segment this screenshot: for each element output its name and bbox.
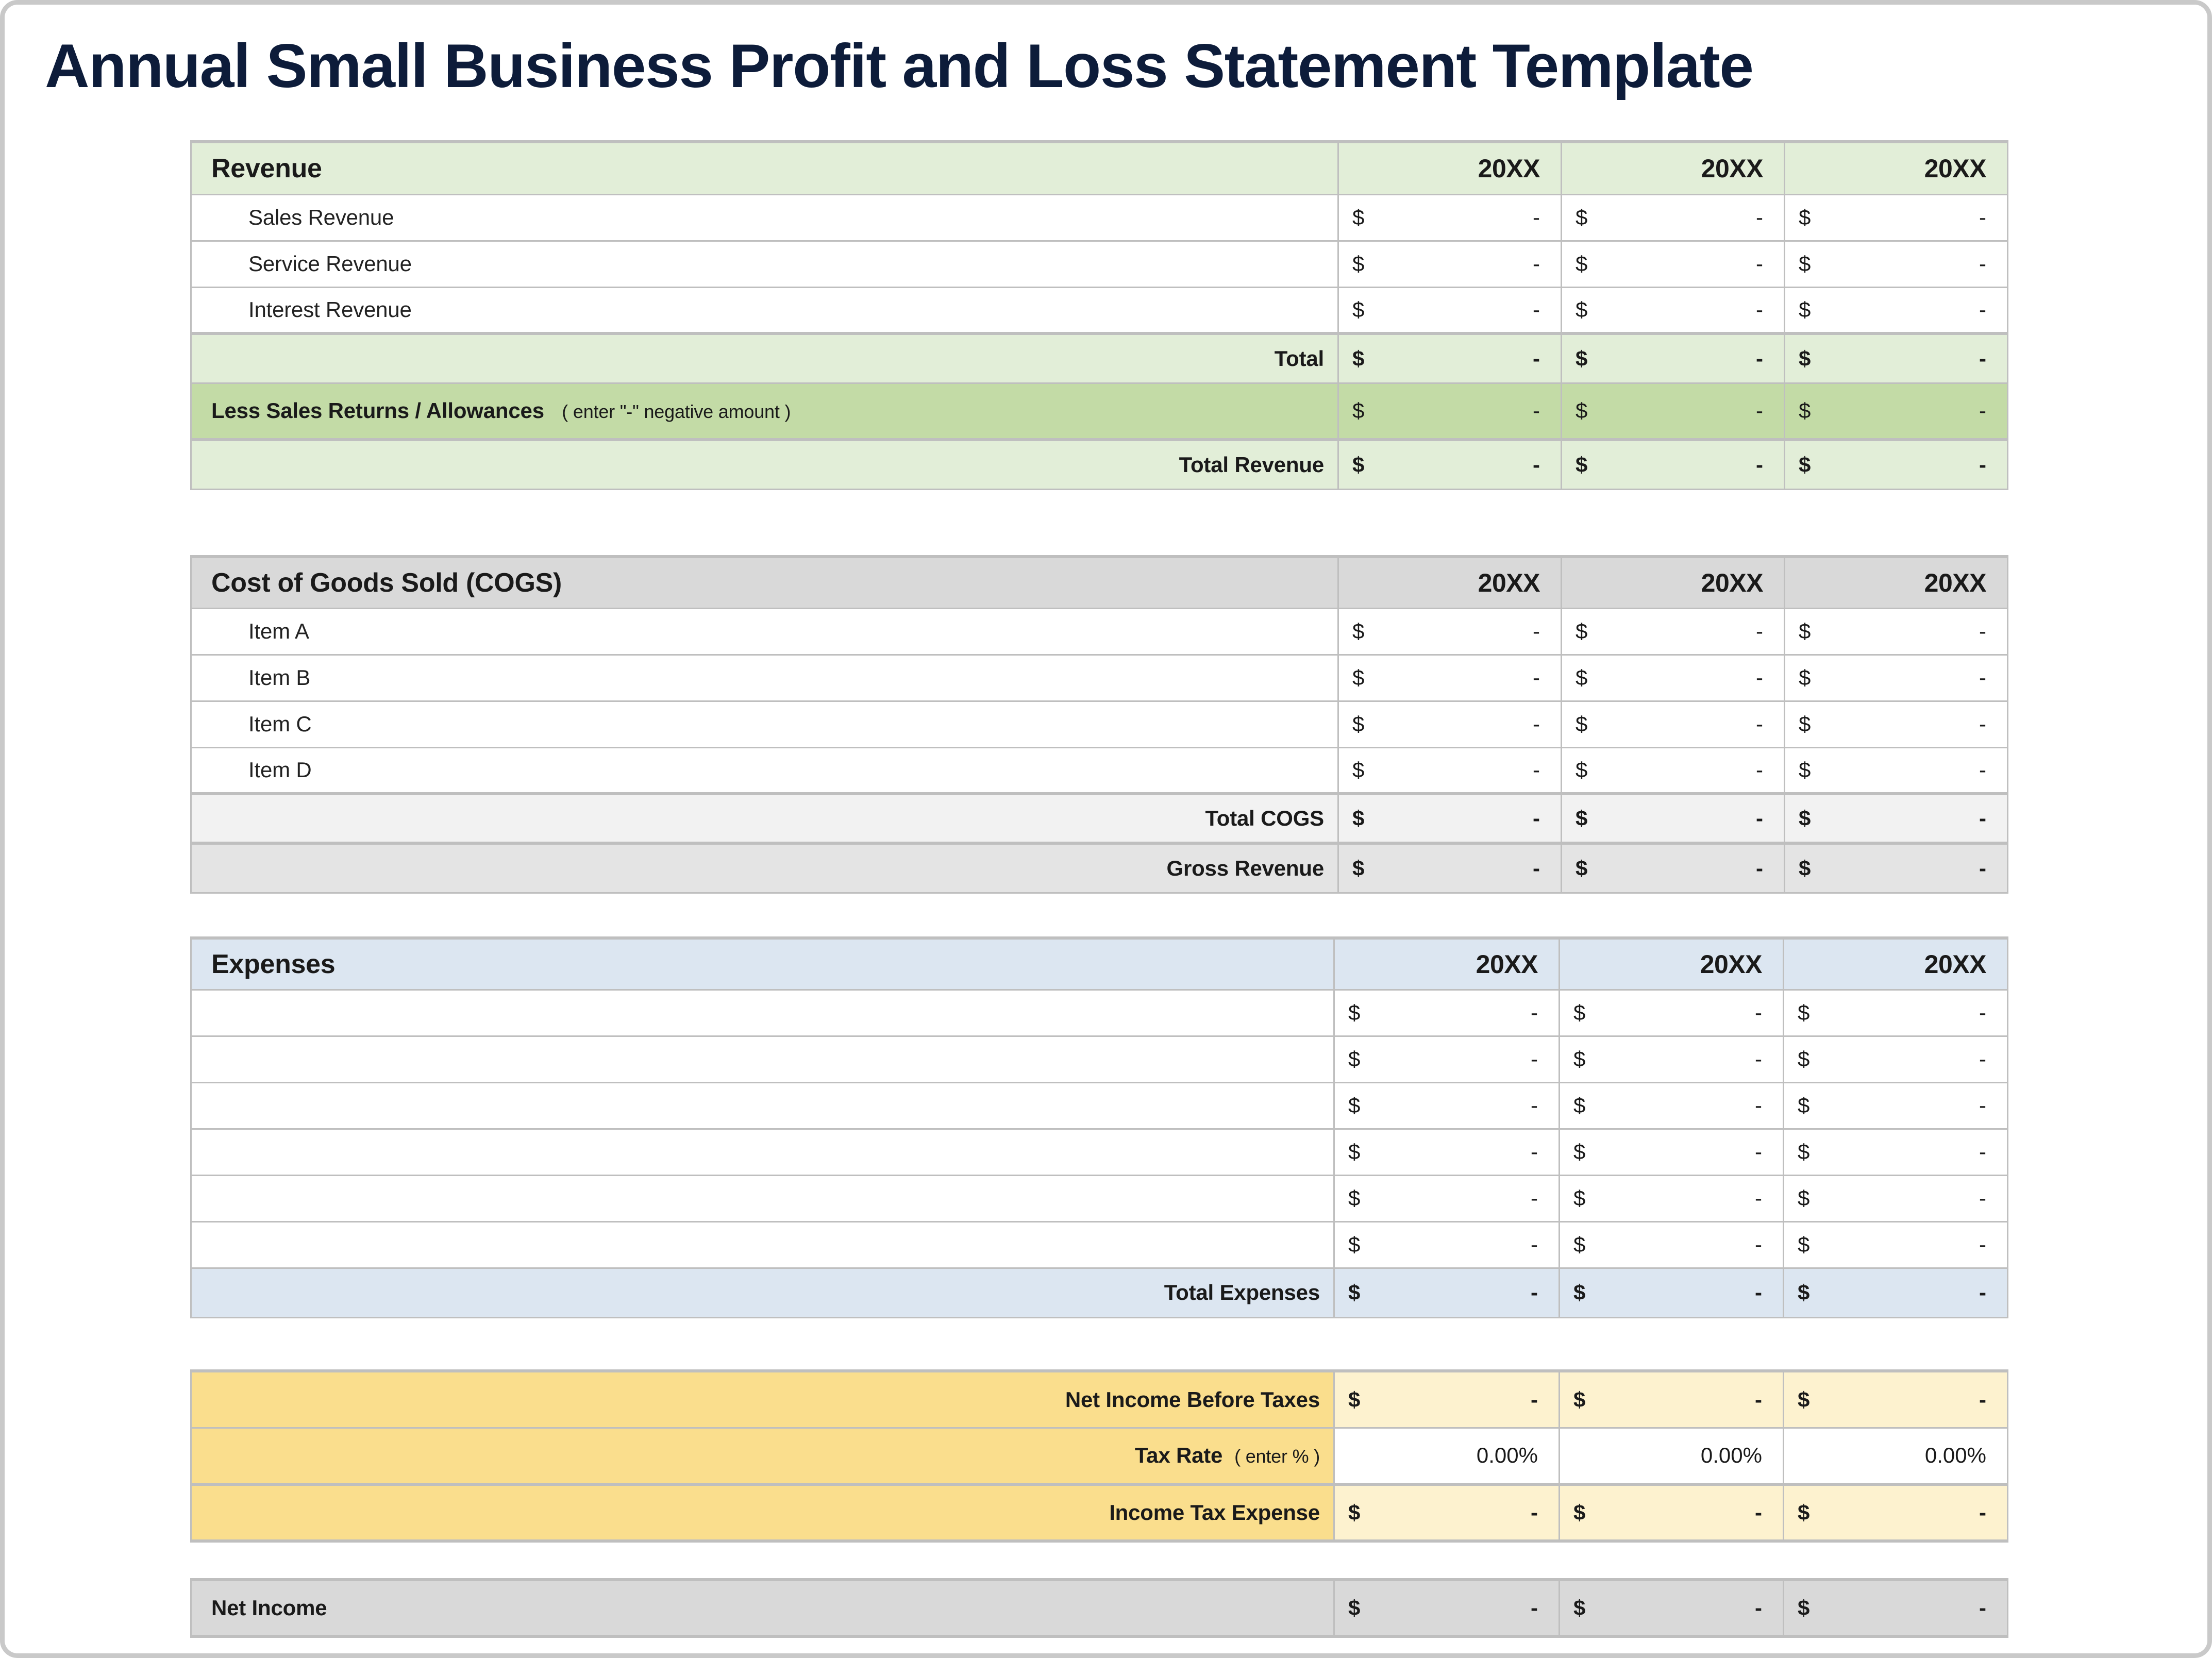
value: - xyxy=(1756,205,1763,230)
expense-row-3-label-cell[interactable] xyxy=(191,1082,1334,1129)
value: - xyxy=(1755,1500,1762,1525)
nibt-val-3: $- xyxy=(1784,1371,2008,1428)
value: - xyxy=(1533,252,1540,276)
sales-revenue-val-2[interactable]: $- xyxy=(1562,194,1785,241)
expense-row-5-label-cell[interactable] xyxy=(191,1175,1334,1221)
value: - xyxy=(1531,1387,1538,1412)
currency-symbol: $ xyxy=(1573,1047,1585,1071)
value: - xyxy=(1531,1500,1538,1525)
cogs-item-d-val-1[interactable]: $- xyxy=(1338,747,1562,794)
total-cogs-row: Total COGS $- $- $- xyxy=(191,794,2008,843)
total-expenses-label-cell: Total Expenses xyxy=(191,1268,1334,1317)
currency-symbol: $ xyxy=(1573,1280,1585,1305)
expense-row-3-val-2[interactable]: $- xyxy=(1560,1082,1784,1129)
value: - xyxy=(1979,398,1986,423)
value: - xyxy=(1756,758,1763,782)
value: - xyxy=(1533,619,1540,644)
total-revenue-label: Total Revenue xyxy=(192,453,1337,477)
currency-symbol: $ xyxy=(1799,856,1811,881)
currency-symbol: $ xyxy=(1798,1000,1809,1025)
expense-row-4-val-1[interactable]: $- xyxy=(1334,1129,1560,1175)
value: - xyxy=(1755,1387,1762,1412)
value: - xyxy=(1979,1596,1986,1620)
currency-symbol: $ xyxy=(1576,453,1587,477)
less-sales-returns-row: Less Sales Returns / Allowances ( enter … xyxy=(191,383,2008,440)
currency-symbol: $ xyxy=(1348,1280,1360,1305)
cogs-year-2-label: 20XX xyxy=(1562,568,1784,598)
tax-rate-row: Tax Rate ( enter % ) 0.00% 0.00% 0.00% xyxy=(191,1428,2008,1484)
value: - xyxy=(1979,1500,1986,1525)
table-row: Interest Revenue $- $- $- xyxy=(191,287,2008,333)
cogs-item-d-label-cell: Item D xyxy=(191,747,1338,794)
cogs-section-label: Cost of Goods Sold (COGS) xyxy=(192,567,1337,598)
table-row: Service Revenue $- $- $- xyxy=(191,241,2008,287)
cogs-item-c-label: Item C xyxy=(192,712,1337,736)
expense-row-3-val-3[interactable]: $- xyxy=(1784,1082,2008,1129)
value: - xyxy=(1979,453,1986,477)
gross-revenue-val-3: $- xyxy=(1785,843,2008,893)
revenue-table: Revenue 20XX 20XX 20XX Sales Revenue $- xyxy=(190,140,2008,490)
expense-row-1-val-1[interactable]: $- xyxy=(1334,990,1560,1036)
value: - xyxy=(1979,346,1986,371)
tax-rate-value-3: 0.00% xyxy=(1784,1443,2007,1468)
service-revenue-label: Service Revenue xyxy=(192,252,1337,276)
value: - xyxy=(1756,665,1763,690)
currency-symbol: $ xyxy=(1348,1387,1360,1412)
value: - xyxy=(1533,398,1540,423)
currency-symbol: $ xyxy=(1576,806,1587,831)
total-cogs-val-2: $- xyxy=(1562,794,1785,843)
net-income-label-cell: Net Income xyxy=(191,1580,1334,1636)
currency-symbol: $ xyxy=(1576,252,1587,276)
expense-row-4-val-3[interactable]: $- xyxy=(1784,1129,2008,1175)
cogs-item-b-label: Item B xyxy=(192,665,1337,690)
currency-symbol: $ xyxy=(1798,1596,1809,1620)
currency-symbol: $ xyxy=(1798,1387,1809,1412)
value: - xyxy=(1755,1047,1762,1071)
cogs-year-1-label: 20XX xyxy=(1339,568,1561,598)
currency-symbol: $ xyxy=(1348,1047,1360,1071)
net-income-before-taxes-label: Net Income Before Taxes xyxy=(192,1387,1333,1412)
value: - xyxy=(1533,856,1540,881)
currency-symbol: $ xyxy=(1352,346,1364,371)
value: - xyxy=(1533,806,1540,831)
expense-row-4-label-cell[interactable] xyxy=(191,1129,1334,1175)
value: - xyxy=(1979,758,1986,782)
cogs-item-c-val-2[interactable]: $- xyxy=(1562,701,1785,747)
interest-revenue-label: Interest Revenue xyxy=(192,297,1337,322)
service-revenue-val-2[interactable]: $- xyxy=(1562,241,1785,287)
value: - xyxy=(1531,1000,1538,1025)
cogs-item-b-val-2[interactable]: $- xyxy=(1562,655,1785,701)
expense-row-5-val-2[interactable]: $- xyxy=(1560,1175,1784,1221)
currency-symbol: $ xyxy=(1573,1387,1585,1412)
currency-symbol: $ xyxy=(1352,712,1364,736)
net-income-table: Net Income $- $- $- xyxy=(190,1578,2008,1638)
currency-symbol: $ xyxy=(1573,1500,1585,1525)
cogs-year-3: 20XX xyxy=(1785,557,2008,608)
less-sales-returns-val-3[interactable]: $- xyxy=(1785,383,2008,440)
table-row: $- $- $- xyxy=(191,1221,2008,1268)
service-revenue-val-1[interactable]: $- xyxy=(1338,241,1562,287)
currency-symbol: $ xyxy=(1576,398,1587,423)
expense-row-3-val-1[interactable]: $- xyxy=(1334,1082,1560,1129)
expense-row-1-label-cell[interactable] xyxy=(191,990,1334,1036)
cogs-item-b-label-cell: Item B xyxy=(191,655,1338,701)
interest-revenue-val-1[interactable]: $- xyxy=(1338,287,1562,333)
service-revenue-label-cell: Service Revenue xyxy=(191,241,1338,287)
tax-rate-val-1[interactable]: 0.00% xyxy=(1334,1428,1560,1484)
expenses-year-2-label: 20XX xyxy=(1560,949,1783,979)
currency-symbol: $ xyxy=(1576,297,1587,322)
less-label-text: Less Sales Returns / Allowances xyxy=(211,398,544,423)
expenses-year-3-label: 20XX xyxy=(1784,949,2007,979)
currency-symbol: $ xyxy=(1799,297,1811,322)
tax-rate-label-cell: Tax Rate ( enter % ) xyxy=(191,1428,1334,1484)
total-expenses-row: Total Expenses $- $- $- xyxy=(191,1268,2008,1317)
document-page: Annual Small Business Profit and Loss St… xyxy=(0,0,2212,1658)
currency-symbol: $ xyxy=(1352,252,1364,276)
currency-symbol: $ xyxy=(1352,297,1364,322)
value: - xyxy=(1755,1186,1762,1211)
expense-row-6-val-3[interactable]: $- xyxy=(1784,1221,2008,1268)
table-row: Item C $- $- $- xyxy=(191,701,2008,747)
net-income-before-taxes-row: Net Income Before Taxes $- $- $- xyxy=(191,1371,2008,1428)
value: - xyxy=(1979,297,1986,322)
net-income-val-3: $- xyxy=(1784,1580,2008,1636)
currency-symbol: $ xyxy=(1573,1186,1585,1211)
sales-revenue-val-1[interactable]: $- xyxy=(1338,194,1562,241)
value: - xyxy=(1531,1186,1538,1211)
revenue-total-val-2: $- xyxy=(1562,333,1785,383)
nibt-val-1: $- xyxy=(1334,1371,1560,1428)
value: - xyxy=(1979,856,1986,881)
total-cogs-label-cell: Total COGS xyxy=(191,794,1338,843)
gross-revenue-row: Gross Revenue $- $- $- xyxy=(191,843,2008,893)
value: - xyxy=(1979,712,1986,736)
expense-row-6-val-1[interactable]: $- xyxy=(1334,1221,1560,1268)
currency-symbol: $ xyxy=(1576,712,1587,736)
currency-symbol: $ xyxy=(1798,1140,1809,1164)
value: - xyxy=(1979,1000,1986,1025)
expense-row-4-val-2[interactable]: $- xyxy=(1560,1129,1784,1175)
currency-symbol: $ xyxy=(1798,1047,1809,1071)
cogs-item-a-val-3[interactable]: $- xyxy=(1785,608,2008,655)
currency-symbol: $ xyxy=(1799,758,1811,782)
revenue-total-val-1: $- xyxy=(1338,333,1562,383)
gross-revenue-val-1: $- xyxy=(1338,843,1562,893)
currency-symbol: $ xyxy=(1799,806,1811,831)
less-sales-returns-label-cell: Less Sales Returns / Allowances ( enter … xyxy=(191,383,1338,440)
expenses-section-label: Expenses xyxy=(192,949,1333,980)
sales-revenue-label: Sales Revenue xyxy=(192,205,1337,230)
currency-symbol: $ xyxy=(1576,665,1587,690)
gross-revenue-val-2: $- xyxy=(1562,843,1785,893)
currency-symbol: $ xyxy=(1573,1093,1585,1118)
less-label-note: ( enter "-" negative amount ) xyxy=(562,401,791,422)
currency-symbol: $ xyxy=(1576,856,1587,881)
expense-row-1-val-3[interactable]: $- xyxy=(1784,990,2008,1036)
page-title: Annual Small Business Profit and Loss St… xyxy=(45,31,2158,101)
table-row: $- $- $- xyxy=(191,1129,2008,1175)
table-row: Item B $- $- $- xyxy=(191,655,2008,701)
value: - xyxy=(1531,1232,1538,1257)
currency-symbol: $ xyxy=(1348,1186,1360,1211)
value: - xyxy=(1531,1280,1538,1305)
total-revenue-val-2: $- xyxy=(1562,440,1785,489)
value: - xyxy=(1755,1000,1762,1025)
less-sales-returns-val-2[interactable]: $- xyxy=(1562,383,1785,440)
value: - xyxy=(1979,665,1986,690)
currency-symbol: $ xyxy=(1352,856,1364,881)
currency-symbol: $ xyxy=(1799,205,1811,230)
income-tax-expense-label-cell: Income Tax Expense xyxy=(191,1484,1334,1541)
nibt-val-2: $- xyxy=(1560,1371,1784,1428)
less-sales-returns-val-1[interactable]: $- xyxy=(1338,383,1562,440)
value: - xyxy=(1979,1047,1986,1071)
tax-rate-label-text: Tax Rate xyxy=(1135,1443,1222,1467)
cogs-item-c-label-cell: Item C xyxy=(191,701,1338,747)
total-expenses-val-2: $- xyxy=(1560,1268,1784,1317)
currency-symbol: $ xyxy=(1798,1280,1809,1305)
currency-symbol: $ xyxy=(1573,1232,1585,1257)
revenue-year-1: 20XX xyxy=(1338,142,1562,194)
value: - xyxy=(1533,346,1540,371)
value: - xyxy=(1755,1280,1762,1305)
cogs-item-d-val-2[interactable]: $- xyxy=(1562,747,1785,794)
cogs-year-2: 20XX xyxy=(1562,557,1785,608)
total-cogs-val-3: $- xyxy=(1785,794,2008,843)
value: - xyxy=(1755,1140,1762,1164)
expenses-year-2: 20XX xyxy=(1560,938,1784,990)
table-row: Item A $- $- $- xyxy=(191,608,2008,655)
value: - xyxy=(1533,712,1540,736)
value: - xyxy=(1755,1232,1762,1257)
currency-symbol: $ xyxy=(1573,1596,1585,1620)
cogs-item-c-val-3[interactable]: $- xyxy=(1785,701,2008,747)
currency-symbol: $ xyxy=(1348,1140,1360,1164)
tax-rate-val-2[interactable]: 0.00% xyxy=(1560,1428,1784,1484)
income-tax-expense-row: Income Tax Expense $- $- $- xyxy=(191,1484,2008,1541)
currency-symbol: $ xyxy=(1799,252,1811,276)
value: - xyxy=(1979,205,1986,230)
value: - xyxy=(1756,453,1763,477)
currency-symbol: $ xyxy=(1799,453,1811,477)
value: - xyxy=(1756,297,1763,322)
tax-rate-val-3[interactable]: 0.00% xyxy=(1784,1428,2008,1484)
interest-revenue-val-2[interactable]: $- xyxy=(1562,287,1785,333)
currency-symbol: $ xyxy=(1352,665,1364,690)
expenses-year-1-label: 20XX xyxy=(1335,949,1559,979)
cogs-item-c-val-1[interactable]: $- xyxy=(1338,701,1562,747)
expense-row-2-val-1[interactable]: $- xyxy=(1334,1036,1560,1082)
value: - xyxy=(1756,856,1763,881)
value: - xyxy=(1979,1387,1986,1412)
total-cogs-val-1: $- xyxy=(1338,794,1562,843)
cogs-item-a-val-1[interactable]: $- xyxy=(1338,608,1562,655)
table-row: $- $- $- xyxy=(191,1036,2008,1082)
value: - xyxy=(1533,758,1540,782)
service-revenue-val-3[interactable]: $- xyxy=(1785,241,2008,287)
expenses-year-3: 20XX xyxy=(1784,938,2008,990)
ite-val-3: $- xyxy=(1784,1484,2008,1541)
value: - xyxy=(1756,806,1763,831)
gross-revenue-label: Gross Revenue xyxy=(192,856,1337,881)
value: - xyxy=(1756,712,1763,736)
value: - xyxy=(1979,1186,1986,1211)
expense-row-5-val-1[interactable]: $- xyxy=(1334,1175,1560,1221)
net-income-label: Net Income xyxy=(192,1596,1333,1620)
value: - xyxy=(1755,1596,1762,1620)
cogs-year-3-label: 20XX xyxy=(1785,568,2007,598)
interest-revenue-val-3[interactable]: $- xyxy=(1785,287,2008,333)
expense-row-2-val-3[interactable]: $- xyxy=(1784,1036,2008,1082)
value: - xyxy=(1531,1596,1538,1620)
expenses-section-header: Expenses xyxy=(191,938,1334,990)
cogs-header-row: Cost of Goods Sold (COGS) 20XX 20XX 20XX xyxy=(191,557,2008,608)
currency-symbol: $ xyxy=(1352,453,1364,477)
currency-symbol: $ xyxy=(1798,1093,1809,1118)
revenue-year-1-label: 20XX xyxy=(1339,154,1561,183)
revenue-header-row: Revenue 20XX 20XX 20XX xyxy=(191,142,2008,194)
revenue-year-3-label: 20XX xyxy=(1785,154,2007,183)
total-cogs-label: Total COGS xyxy=(192,806,1337,831)
tax-rate-note: ( enter % ) xyxy=(1234,1446,1320,1467)
expenses-header-row: Expenses 20XX 20XX 20XX xyxy=(191,938,2008,990)
cogs-item-a-label-cell: Item A xyxy=(191,608,1338,655)
expense-row-6-val-2[interactable]: $- xyxy=(1560,1221,1784,1268)
interest-revenue-label-cell: Interest Revenue xyxy=(191,287,1338,333)
value: - xyxy=(1531,1093,1538,1118)
total-expenses-label: Total Expenses xyxy=(192,1280,1333,1305)
currency-symbol: $ xyxy=(1799,398,1811,423)
table-row: Item D $- $- $- xyxy=(191,747,2008,794)
value: - xyxy=(1755,1093,1762,1118)
sales-revenue-val-3[interactable]: $- xyxy=(1785,194,2008,241)
currency-symbol: $ xyxy=(1352,619,1364,644)
gross-revenue-label-cell: Gross Revenue xyxy=(191,843,1338,893)
currency-symbol: $ xyxy=(1348,1093,1360,1118)
tax-rate-value-1: 0.00% xyxy=(1335,1443,1559,1468)
value: - xyxy=(1533,453,1540,477)
currency-symbol: $ xyxy=(1348,1000,1360,1025)
revenue-total-label: Total xyxy=(192,346,1337,371)
currency-symbol: $ xyxy=(1576,205,1587,230)
value: - xyxy=(1979,1280,1986,1305)
expense-row-2-val-2[interactable]: $- xyxy=(1560,1036,1784,1082)
revenue-total-val-3: $- xyxy=(1785,333,2008,383)
value: - xyxy=(1756,252,1763,276)
currency-symbol: $ xyxy=(1798,1232,1809,1257)
cogs-section-header: Cost of Goods Sold (COGS) xyxy=(191,557,1338,608)
currency-symbol: $ xyxy=(1348,1500,1360,1525)
cogs-item-a-label: Item A xyxy=(192,619,1337,644)
net-income-row: Net Income $- $- $- xyxy=(191,1580,2008,1636)
currency-symbol: $ xyxy=(1799,665,1811,690)
cogs-item-d-val-3[interactable]: $- xyxy=(1785,747,2008,794)
value: - xyxy=(1979,806,1986,831)
table-row: $- $- $- xyxy=(191,990,2008,1036)
expense-row-1-val-2[interactable]: $- xyxy=(1560,990,1784,1036)
revenue-section-header: Revenue xyxy=(191,142,1338,194)
table-row: $- $- $- xyxy=(191,1082,2008,1129)
ite-val-1: $- xyxy=(1334,1484,1560,1541)
value: - xyxy=(1756,619,1763,644)
cogs-item-d-label: Item D xyxy=(192,758,1337,782)
currency-symbol: $ xyxy=(1799,712,1811,736)
currency-symbol: $ xyxy=(1576,346,1587,371)
taxes-table: Net Income Before Taxes $- $- $- Tax Rat… xyxy=(190,1369,2008,1543)
currency-symbol: $ xyxy=(1352,398,1364,423)
value: - xyxy=(1979,1093,1986,1118)
revenue-year-3: 20XX xyxy=(1785,142,2008,194)
currency-symbol: $ xyxy=(1352,758,1364,782)
expense-row-5-val-3[interactable]: $- xyxy=(1784,1175,2008,1221)
revenue-total-label-cell: Total xyxy=(191,333,1338,383)
value: - xyxy=(1533,665,1540,690)
table-row: Sales Revenue $- $- $- xyxy=(191,194,2008,241)
expense-row-6-label-cell[interactable] xyxy=(191,1221,1334,1268)
total-expenses-val-3: $- xyxy=(1784,1268,2008,1317)
value: - xyxy=(1533,297,1540,322)
cogs-year-1: 20XX xyxy=(1338,557,1562,608)
tax-rate-value-2: 0.00% xyxy=(1560,1443,1783,1468)
value: - xyxy=(1533,205,1540,230)
currency-symbol: $ xyxy=(1352,806,1364,831)
cogs-item-a-val-2[interactable]: $- xyxy=(1562,608,1785,655)
currency-symbol: $ xyxy=(1573,1140,1585,1164)
value: - xyxy=(1979,252,1986,276)
cogs-item-b-val-1[interactable]: $- xyxy=(1338,655,1562,701)
value: - xyxy=(1979,619,1986,644)
currency-symbol: $ xyxy=(1576,619,1587,644)
total-revenue-val-1: $- xyxy=(1338,440,1562,489)
expense-row-2-label-cell[interactable] xyxy=(191,1036,1334,1082)
total-revenue-label-cell: Total Revenue xyxy=(191,440,1338,489)
total-revenue-val-3: $- xyxy=(1785,440,2008,489)
value: - xyxy=(1979,1140,1986,1164)
currency-symbol: $ xyxy=(1352,205,1364,230)
net-income-val-1: $- xyxy=(1334,1580,1560,1636)
expenses-table: Expenses 20XX 20XX 20XX $- xyxy=(190,936,2008,1318)
revenue-section-label: Revenue xyxy=(192,153,1337,184)
currency-symbol: $ xyxy=(1799,346,1811,371)
nibt-label-cell: Net Income Before Taxes xyxy=(191,1371,1334,1428)
currency-symbol: $ xyxy=(1576,758,1587,782)
revenue-year-2-label: 20XX xyxy=(1562,154,1784,183)
cogs-table: Cost of Goods Sold (COGS) 20XX 20XX 20XX… xyxy=(190,555,2008,894)
value: - xyxy=(1531,1047,1538,1071)
table-row: $- $- $- xyxy=(191,1175,2008,1221)
tax-rate-label: Tax Rate ( enter % ) xyxy=(192,1443,1333,1468)
net-income-val-2: $- xyxy=(1560,1580,1784,1636)
total-revenue-row: Total Revenue $- $- $- xyxy=(191,440,2008,489)
value: - xyxy=(1756,398,1763,423)
total-expenses-val-1: $- xyxy=(1334,1268,1560,1317)
currency-symbol: $ xyxy=(1799,619,1811,644)
less-sales-returns-label: Less Sales Returns / Allowances ( enter … xyxy=(192,398,1337,423)
currency-symbol: $ xyxy=(1348,1232,1360,1257)
value: - xyxy=(1531,1140,1538,1164)
cogs-item-b-val-3[interactable]: $- xyxy=(1785,655,2008,701)
revenue-year-2: 20XX xyxy=(1562,142,1785,194)
income-tax-expense-label: Income Tax Expense xyxy=(192,1500,1333,1525)
sales-revenue-label-cell: Sales Revenue xyxy=(191,194,1338,241)
value: - xyxy=(1979,1232,1986,1257)
currency-symbol: $ xyxy=(1348,1596,1360,1620)
value: - xyxy=(1756,346,1763,371)
ite-val-2: $- xyxy=(1560,1484,1784,1541)
